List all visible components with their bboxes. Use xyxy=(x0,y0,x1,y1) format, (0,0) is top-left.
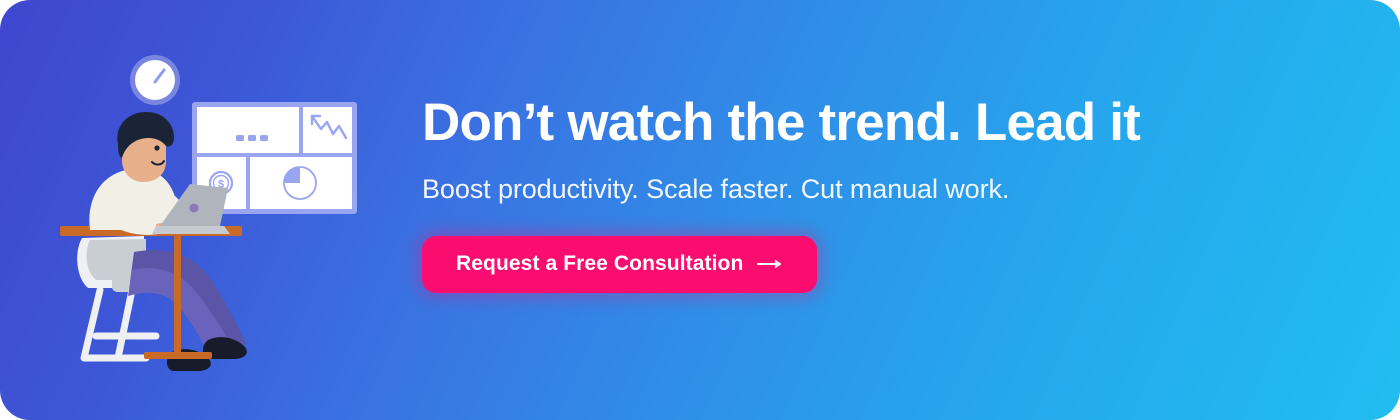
arrow-right-icon xyxy=(757,257,783,271)
pie-chart-icon xyxy=(284,167,316,199)
promo-banner: $ xyxy=(0,0,1400,420)
person-head xyxy=(117,112,174,182)
three-dots-icon xyxy=(236,135,268,141)
page-title: Don’t watch the trend. Lead it xyxy=(422,92,1282,154)
copy-block: Don’t watch the trend. Lead it Boost pro… xyxy=(422,92,1282,293)
person-working-at-desk-illustration: $ xyxy=(60,40,400,380)
cta-container: Request a Free Consultation xyxy=(422,236,1282,293)
subtitle: Boost productivity. Scale faster. Cut ma… xyxy=(422,172,1282,206)
cta-label: Request a Free Consultation xyxy=(456,253,743,275)
request-consultation-button[interactable]: Request a Free Consultation xyxy=(422,236,817,293)
wall-clock-icon xyxy=(130,55,180,105)
